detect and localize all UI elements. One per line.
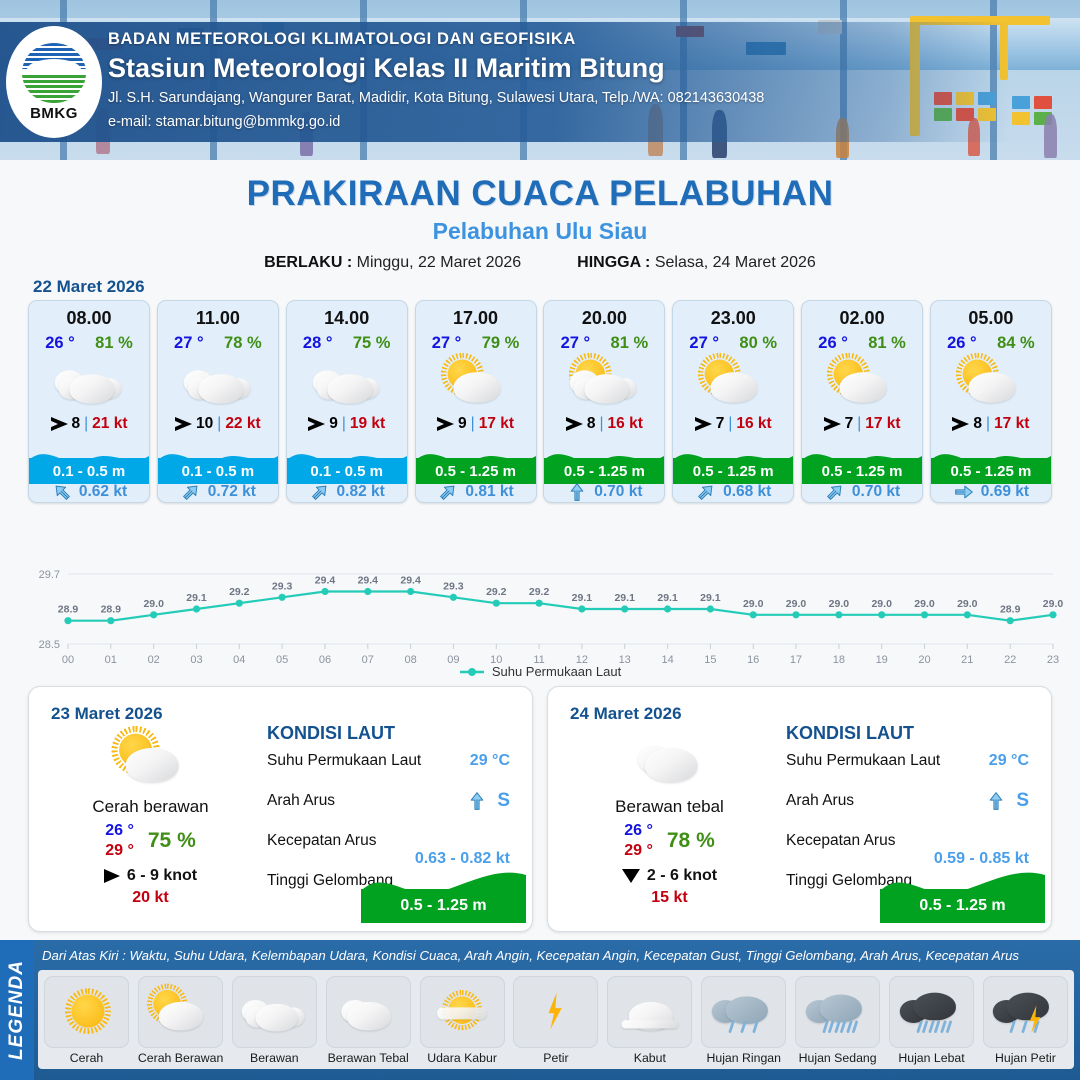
page-title: PRAKIRAAN CUACA PELABUHAN [0,174,1080,214]
daily-weather-icon [562,729,777,791]
card-gust-speed: 17 kt [479,415,514,433]
daily-wind-range: 6 - 9 knot [127,867,197,885]
current-direction-value-group: S [466,790,510,812]
sst-label: Suhu Permukaan Laut [267,752,421,770]
svg-text:29.0: 29.0 [786,598,807,610]
card-metrics: 28 °75 % [287,334,407,353]
haze-bar-shape [437,1007,487,1019]
legend-item-icon-box [513,976,598,1048]
card-wind: 7|16 kt [673,415,793,433]
weather-icon-cerah [52,989,120,1035]
card-wave-area: 0.1 - 0.5 m0.62 kt [29,438,149,502]
daily-date: 24 Maret 2026 [570,704,682,724]
card-metrics: 26 °81 % [802,334,922,353]
bmkg-logo: BMKG [6,26,102,138]
fog-bar-shape [621,1020,678,1028]
legend-item: Hujan Ringan [701,976,786,1065]
daily-temp-max: 29 ° [624,841,653,861]
wind-direction-arrow-icon [175,417,192,431]
current-direction-arrow-icon [691,477,721,503]
daily-date: 23 Maret 2026 [51,704,163,724]
sst-chart-svg: 29.728.528.90028.90129.00229.10329.20429… [20,560,1065,680]
card-wind: 8|17 kt [931,415,1051,433]
card-time: 17.00 [416,308,536,329]
legend-item-label: Berawan [232,1051,317,1065]
station-address: Jl. S.H. Sarundajang, Wangurer Barat, Ma… [108,88,764,109]
weather-icon-cerah-berawan [110,733,191,788]
daily-temp-min: 26 ° [624,821,653,841]
cloud-main-shape [711,372,758,402]
current-direction-row: Arah ArusS [267,790,518,830]
valid-from-label: BERLAKU : [264,254,352,271]
legend-item-label: Hujan Ringan [701,1051,786,1065]
bmkg-logo-mark [22,43,86,103]
legend-item-icon-box [44,976,129,1048]
daily-temp-min: 26 ° [105,821,134,841]
card-time: 20.00 [544,308,664,329]
wind-separator: | [471,415,475,433]
card-humidity: 84 % [997,334,1035,353]
weather-icon-berawan [310,359,383,408]
hourly-card: 14.0028 °75 %9|19 kt0.1 - 0.5 m0.82 kt [286,300,408,503]
legend-item-label: Hujan Sedang [795,1051,880,1065]
weather-icon-berawan [53,359,126,408]
legend-item-icon-box [138,976,223,1048]
card-wave-area: 0.5 - 1.25 m0.69 kt [931,438,1051,502]
weather-icon-berawan-tebal [629,733,710,788]
card-wind-direction: 8 [72,415,81,433]
valid-from: BERLAKU : Minggu, 22 Maret 2026 [264,254,521,272]
card-metrics: 26 °81 % [29,334,149,353]
card-wave-area: 0.5 - 1.25 m0.70 kt [544,438,664,502]
cloud-main-shape [585,374,630,403]
card-wave-height: 0.5 - 1.25 m [416,458,536,484]
card-gust-speed: 16 kt [736,415,771,433]
sea-conditions-title: KONDISI LAUT [267,723,518,744]
card-current: 0.70 kt [544,482,664,502]
cloud-main-shape [347,1002,391,1031]
daily-temp-humidity: 26 °29 °78 % [562,821,777,860]
card-current-speed: 0.81 kt [465,483,513,501]
sst-row: Suhu Permukaan Laut29 °C [786,750,1037,790]
weather-icon-cerah-berawan [955,359,1028,408]
svg-text:28.5: 28.5 [39,639,60,651]
daily-gust: 15 kt [562,889,777,907]
cloud-main-shape [125,748,178,782]
wind-direction-arrow-icon [308,417,325,431]
valid-until-label: HINGGA : [577,254,650,271]
svg-text:29.0: 29.0 [1043,598,1064,610]
legend-item-label: Hujan Petir [983,1051,1068,1065]
legend-side-label: LEGENDA [0,940,34,1080]
card-temperature: 28 ° [303,334,333,353]
sst-value: 29 °C [989,752,1029,770]
card-temperature: 27 ° [174,334,204,353]
card-current: 0.68 kt [673,482,793,502]
wind-separator: | [84,415,88,433]
cloud-main-shape [256,1004,298,1032]
cloud-main-shape [840,372,887,402]
card-wave-area: 0.5 - 1.25 m0.70 kt [802,438,922,502]
daily-wind-direction-arrow-icon [622,869,640,883]
weather-icon-berawan [182,359,255,408]
svg-text:29.1: 29.1 [186,592,207,604]
sst-row: Suhu Permukaan Laut29 °C [267,750,518,790]
card-current-speed: 0.70 kt [852,483,900,501]
weather-icon-berawan [240,989,308,1035]
card-temperature: 26 ° [45,334,75,353]
card-current: 0.70 kt [802,482,922,502]
card-temperature: 26 ° [947,334,977,353]
daily-temps: 26 °29 ° [624,821,653,860]
organization-name: BADAN METEOROLOGI KLIMATOLOGI DAN GEOFIS… [108,30,764,50]
hourly-card: 02.0026 °81 %7|17 kt0.5 - 1.25 m0.70 kt [801,300,923,503]
daily-condition: Cerah berawan [43,797,258,817]
svg-text:29.3: 29.3 [443,580,464,592]
card-humidity: 75 % [353,334,391,353]
daily-summary-left: Berawan tebal26 °29 °78 %2 - 6 knot15 kt [562,729,777,907]
daily-wind-range: 2 - 6 knot [647,867,717,885]
hourly-card: 17.0027 °79 %9|17 kt0.5 - 1.25 m0.81 kt [415,300,537,503]
wind-separator: | [728,415,732,433]
card-current-speed: 0.68 kt [723,483,771,501]
lightning-bolt-shape [546,993,564,1030]
card-temperature: 26 ° [818,334,848,353]
current-direction-arrow-icon [566,482,588,502]
sst-label: Suhu Permukaan Laut [786,752,940,770]
weather-icon-cerah-berawan-2 [568,359,641,408]
cloud-main-shape [159,1002,203,1031]
svg-text:29.1: 29.1 [657,592,678,604]
card-wave-height: 0.5 - 1.25 m [931,458,1051,484]
hourly-card: 20.0027 °81 %8|16 kt0.5 - 1.25 m0.70 kt [543,300,665,503]
card-wind-direction: 8 [587,415,596,433]
card-humidity: 79 % [482,334,520,353]
current-direction-arrow-icon [954,481,974,503]
svg-text:29.1: 29.1 [572,592,593,604]
card-current: 0.69 kt [931,482,1051,502]
current-direction-arrow-icon [305,477,335,503]
card-wave-area: 0.1 - 0.5 m0.82 kt [287,438,407,502]
card-wave-height: 0.1 - 0.5 m [29,458,149,484]
card-wave-height: 0.5 - 1.25 m [673,458,793,484]
legend-item-icon-box [326,976,411,1048]
title-block: PRAKIRAAN CUACA PELABUHAN Pelabuhan Ulu … [0,160,1080,272]
card-wave-height: 0.5 - 1.25 m [802,458,922,484]
svg-text:28.9: 28.9 [101,604,122,616]
daily-forecast-panel: 23 Maret 2026Cerah berawan26 °29 °75 %6 … [28,686,533,932]
card-time: 11.00 [158,308,278,329]
card-weather-icon [287,355,407,411]
chart-legend-marker-icon [459,667,485,677]
card-wind: 8|21 kt [29,415,149,433]
current-speed-label: Kecepatan Arus [786,832,895,850]
wind-separator: | [600,415,604,433]
daily-wind: 6 - 9 knot [43,867,258,885]
svg-text:29.0: 29.0 [871,598,892,610]
hourly-date-label: 22 Maret 2026 [33,277,145,297]
validity-row: BERLAKU : Minggu, 22 Maret 2026 HINGGA :… [0,254,1080,272]
current-direction-value-group: S [985,790,1029,812]
svg-text:29.2: 29.2 [486,586,507,598]
daily-wave-height-value: 0.5 - 1.25 m [361,889,526,923]
daily-condition: Berawan tebal [562,797,777,817]
card-gust-speed: 16 kt [608,415,643,433]
legend-item-icon-box [420,976,505,1048]
wind-direction-arrow-icon [437,417,454,431]
card-time: 08.00 [29,308,149,329]
card-metrics: 27 °80 % [673,334,793,353]
cloud-main-shape [644,748,697,782]
wind-direction-arrow-icon [566,417,583,431]
chart-legend-label: Suhu Permukaan Laut [492,664,621,679]
card-current: 0.82 kt [287,482,407,502]
card-humidity: 80 % [739,334,777,353]
card-metrics: 27 °78 % [158,334,278,353]
weather-icon-cerah-berawan [826,359,899,408]
card-temperature: 27 ° [689,334,719,353]
weather-icon-hujan-sedang [804,989,872,1035]
card-wind-direction: 9 [329,415,338,433]
card-current-speed: 0.62 kt [79,483,127,501]
card-wave-height: 0.1 - 0.5 m [158,458,278,484]
daily-gust: 20 kt [43,889,258,907]
card-weather-icon [416,355,536,411]
card-gust-speed: 19 kt [350,415,385,433]
wind-direction-arrow-icon [824,417,841,431]
card-wind: 9|19 kt [287,415,407,433]
svg-text:29.0: 29.0 [829,598,850,610]
legend-item-icon-box [701,976,786,1048]
weather-icon-cerah-berawan [697,359,770,408]
svg-text:29.4: 29.4 [400,575,421,587]
svg-text:29.0: 29.0 [957,598,978,610]
current-direction-value: S [497,790,510,812]
svg-text:28.9: 28.9 [58,604,79,616]
card-time: 23.00 [673,308,793,329]
legend-items-row: CerahCerah BerawanBerawanBerawan TebalUd… [38,970,1074,1069]
daily-wave-graphic: 0.5 - 1.25 m [361,861,526,923]
wind-direction-arrow-icon [695,417,712,431]
legend-item-label: Petir [513,1051,598,1065]
daily-wave-graphic: 0.5 - 1.25 m [880,861,1045,923]
card-wind: 9|17 kt [416,415,536,433]
legend-item: Berawan Tebal [326,976,411,1065]
svg-text:29.4: 29.4 [315,575,336,587]
svg-text:29.7: 29.7 [39,569,60,581]
card-wave-area: 0.5 - 1.25 m0.81 kt [416,438,536,502]
card-current: 0.62 kt [29,482,149,502]
card-weather-icon [673,355,793,411]
current-direction-label: Arah Arus [267,792,335,810]
card-humidity: 81 % [868,334,906,353]
legend-item-icon-box [795,976,880,1048]
legend-item-icon-box [983,976,1068,1048]
legend-item: Petir [513,976,598,1065]
daily-current-direction-arrow-icon [466,791,488,811]
legend-item: Cerah [44,976,129,1065]
port-name: Pelabuhan Ulu Siau [0,218,1080,245]
weather-icon-berawan-tebal [334,989,402,1035]
current-direction-arrow-icon [47,477,77,503]
hourly-card: 08.0026 °81 %8|21 kt0.1 - 0.5 m0.62 kt [28,300,150,503]
card-humidity: 81 % [95,334,133,353]
legend-item-label: Kabut [607,1051,692,1065]
daily-temp-max: 29 ° [105,841,134,861]
current-direction-value: S [1016,790,1029,812]
sst-chart: 29.728.528.90028.90129.00229.10329.20429… [20,560,1065,680]
legend-item: Cerah Berawan [138,976,223,1065]
weather-icon-kabut [616,989,684,1035]
station-email: e-mail: stamar.bitung@bmmkg.go.id [108,112,764,133]
cloud-main-shape [968,372,1015,402]
legend-item-label: Berawan Tebal [326,1051,411,1065]
card-gust-speed: 21 kt [92,415,127,433]
svg-text:29.2: 29.2 [229,586,250,598]
svg-text:29.0: 29.0 [143,598,164,610]
card-weather-icon [931,355,1051,411]
header-banner: BMKG BADAN METEOROLOGI KLIMATOLOGI DAN G… [0,0,1080,160]
daily-temp-humidity: 26 °29 °75 % [43,821,258,860]
legend-item-label: Cerah Berawan [138,1051,223,1065]
card-weather-icon [802,355,922,411]
legend-item: Kabut [607,976,692,1065]
card-time: 02.00 [802,308,922,329]
legend-item: Berawan [232,976,317,1065]
card-current-speed: 0.82 kt [337,483,385,501]
weather-icon-udara-kabur [428,989,496,1035]
daily-humidity: 75 % [148,829,196,853]
legend-item-icon-box [889,976,974,1048]
card-time: 05.00 [931,308,1051,329]
card-wind: 8|16 kt [544,415,664,433]
cloud-main-shape [198,374,243,403]
weather-icon-cerah-berawan [439,359,512,408]
hourly-forecast-row: 08.0026 °81 %8|21 kt0.1 - 0.5 m0.62 kt11… [28,300,1052,503]
card-wind-direction: 7 [716,415,725,433]
svg-text:29.0: 29.0 [914,598,935,610]
card-current-speed: 0.69 kt [981,483,1029,501]
current-direction-label: Arah Arus [786,792,854,810]
legend-item: Udara Kabur [420,976,505,1065]
wind-direction-arrow-icon [51,417,68,431]
legend-note: Dari Atas Kiri : Waktu, Suhu Udara, Kele… [42,948,1074,963]
card-metrics: 26 °84 % [931,334,1051,353]
valid-until: HINGGA : Selasa, 24 Maret 2026 [577,254,816,272]
wind-separator: | [217,415,221,433]
svg-text:29.3: 29.3 [272,580,293,592]
hourly-card: 05.0026 °84 %8|17 kt0.5 - 1.25 m0.69 kt [930,300,1052,503]
card-metrics: 27 °79 % [416,334,536,353]
wind-separator: | [857,415,861,433]
legend-item: Hujan Lebat [889,976,974,1065]
card-humidity: 78 % [224,334,262,353]
card-metrics: 27 °81 % [544,334,664,353]
sea-conditions-title: KONDISI LAUT [786,723,1037,744]
card-current: 0.81 kt [416,482,536,502]
card-wave-height: 0.5 - 1.25 m [544,458,664,484]
card-temperature: 27 ° [432,334,462,353]
hourly-card: 11.0027 °78 %10|22 kt0.1 - 0.5 m0.72 kt [157,300,279,503]
raindrop-shape [1022,1020,1029,1033]
svg-text:29.0: 29.0 [743,598,764,610]
cloud-main-shape [1007,993,1049,1021]
legend-item-label: Udara Kabur [420,1051,505,1065]
card-weather-icon [29,355,149,411]
current-direction-row: Arah ArusS [786,790,1037,830]
current-direction-arrow-icon [176,477,206,503]
current-speed-label: Kecepatan Arus [267,832,376,850]
card-humidity: 81 % [611,334,649,353]
hourly-card: 23.0027 °80 %7|16 kt0.5 - 1.25 m0.68 kt [672,300,794,503]
bmkg-logo-text: BMKG [30,105,78,122]
card-current: 0.72 kt [158,482,278,502]
cloud-main-shape [69,374,114,403]
daily-wind-direction-arrow-icon [104,869,120,883]
card-wind-direction: 7 [845,415,854,433]
card-time: 14.00 [287,308,407,329]
card-wind-direction: 10 [196,415,213,433]
legend-item-label: Hujan Lebat [889,1051,974,1065]
card-current-speed: 0.72 kt [208,483,256,501]
svg-text:29.2: 29.2 [529,586,550,598]
valid-from-value: Minggu, 22 Maret 2026 [357,254,522,271]
weather-icon-hujan-ringan [710,989,778,1035]
wind-direction-arrow-icon [952,417,969,431]
current-direction-arrow-icon [820,477,850,503]
svg-text:29.1: 29.1 [614,592,635,604]
legend-footer: LEGENDA Dari Atas Kiri : Waktu, Suhu Uda… [0,940,1080,1080]
card-wave-area: 0.5 - 1.25 m0.68 kt [673,438,793,502]
daily-humidity: 78 % [667,829,715,853]
card-temperature: 27 ° [561,334,591,353]
cloud-main-shape [819,995,861,1023]
cloud-main-shape [327,374,372,403]
daily-temps: 26 °29 ° [105,821,134,860]
sst-value: 29 °C [470,752,510,770]
legend-item: Hujan Sedang [795,976,880,1065]
card-weather-icon [544,355,664,411]
legend-item-icon-box [607,976,692,1048]
card-current-speed: 0.70 kt [594,483,642,501]
cloud-main-shape [913,993,955,1021]
daily-weather-icon [43,729,258,791]
daily-wind: 2 - 6 knot [562,867,777,885]
daily-wave-height-value: 0.5 - 1.25 m [880,889,1045,923]
legend-item: Hujan Petir [983,976,1068,1065]
cloud-main-shape [453,372,500,402]
card-wind: 7|17 kt [802,415,922,433]
sun-shape [71,995,104,1028]
svg-text:28.9: 28.9 [1000,604,1021,616]
wind-separator: | [986,415,990,433]
wind-separator: | [342,415,346,433]
weather-icon-cerah-berawan [146,989,214,1035]
weather-icon-petir [522,989,590,1035]
card-gust-speed: 22 kt [225,415,260,433]
daily-summary-left: Cerah berawan26 °29 °75 %6 - 9 knot20 kt [43,729,258,907]
card-wave-height: 0.1 - 0.5 m [287,458,407,484]
card-wind-direction: 8 [973,415,982,433]
card-wind-direction: 9 [458,415,467,433]
card-gust-speed: 17 kt [865,415,900,433]
card-weather-icon [158,355,278,411]
weather-icon-hujan-petir [991,989,1059,1035]
card-wave-area: 0.1 - 0.5 m0.72 kt [158,438,278,502]
legend-item-label: Cerah [44,1051,129,1065]
weather-icon-hujan-lebat [897,989,965,1035]
valid-until-value: Selasa, 24 Maret 2026 [655,254,816,271]
